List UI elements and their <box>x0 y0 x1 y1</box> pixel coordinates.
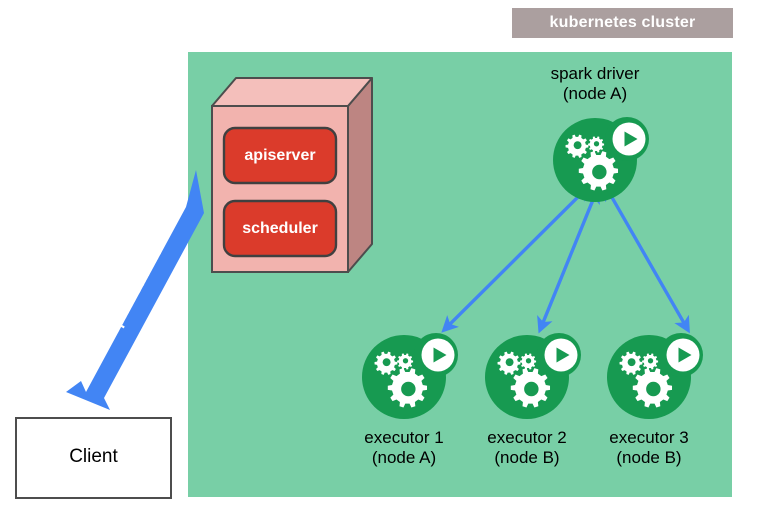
client-label: Client <box>16 446 171 468</box>
executor-3-label-line1: executor 3 <box>609 428 688 447</box>
scheduler-label: scheduler <box>224 220 336 238</box>
diagram-canvas: kubernetes cluster apiserver scheduler s… <box>0 0 761 516</box>
cluster-tag-label: kubernetes cluster <box>512 14 733 32</box>
executor-3-label-line2: (node B) <box>574 448 724 468</box>
apiserver-label: apiserver <box>224 147 336 165</box>
executor-2-label-line1: executor 2 <box>487 428 566 447</box>
executor-3-label: executor 3 (node B) <box>574 428 724 468</box>
spark-driver-label-line1: spark driver <box>551 64 640 83</box>
spark-driver-label: spark driver (node A) <box>515 64 675 104</box>
spark-driver-label-line2: (node A) <box>515 84 675 104</box>
executor-1-label-line1: executor 1 <box>364 428 443 447</box>
control-plane-cube <box>212 78 372 272</box>
